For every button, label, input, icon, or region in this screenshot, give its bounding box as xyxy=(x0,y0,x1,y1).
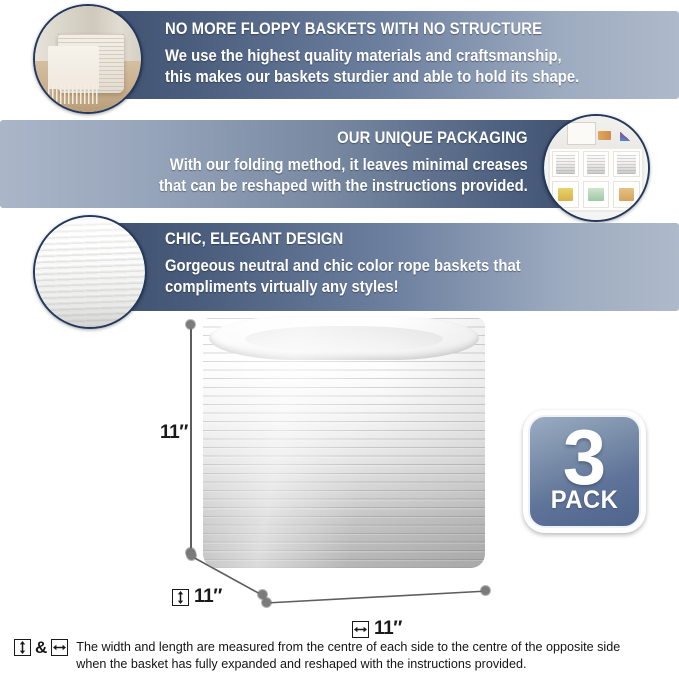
depth-dimension-dot-start xyxy=(187,551,196,560)
feature-body-3: Gorgeous neutral and chic color rope bas… xyxy=(165,256,521,298)
footnote-text: The width and length are measured from t… xyxy=(76,639,620,673)
vertical-arrow-icon xyxy=(14,639,31,656)
horizontal-arrow-icon xyxy=(352,621,369,638)
footnote-line-2: when the basket has fully expanded and r… xyxy=(76,656,620,673)
depth-dimension-label: 11″ xyxy=(194,586,222,608)
horizontal-arrow-icon xyxy=(51,639,68,656)
three-pack-badge: 3 PACK xyxy=(523,410,646,533)
feature-body-2: With our folding method, it leaves minim… xyxy=(159,155,528,197)
width-dimension-dot-right xyxy=(481,586,490,595)
grey-white-rope-storage-basket xyxy=(203,318,485,568)
basket-with-throw-blanket-photo xyxy=(33,4,143,114)
width-dimension-dot-left xyxy=(262,598,271,607)
height-dimension-label: 11″ xyxy=(160,422,188,444)
width-dimension-label: 11″ xyxy=(374,618,402,640)
height-dimension-dot-top xyxy=(186,320,195,329)
feature-body-line-2: that can be reshaped with the instructio… xyxy=(159,176,528,197)
feature-body-1: We use the highest quality materials and… xyxy=(165,46,579,88)
vertical-arrow-icon xyxy=(172,589,189,606)
feature-block-3: CHIC, ELEGANT DESIGN Gorgeous neutral an… xyxy=(0,216,679,322)
width-dimension-line xyxy=(262,586,494,608)
pack-word: PACK xyxy=(551,488,618,513)
feature-body-line-1: With our folding method, it leaves minim… xyxy=(159,155,528,176)
feature-heading-3: CHIC, ELEGANT DESIGN xyxy=(165,230,343,249)
height-dimension-line xyxy=(190,326,192,556)
feature-heading-1: NO MORE FLOPPY BASKETS WITH NO STRUCTURE xyxy=(165,20,542,39)
feature-body-line-1: We use the highest quality materials and… xyxy=(165,46,579,67)
product-infographic: NO MORE FLOPPY BASKETS WITH NO STRUCTURE… xyxy=(0,0,679,672)
feature-body-line-2: this makes our baskets sturdier and able… xyxy=(165,67,579,88)
ampersand-label: & xyxy=(35,639,47,656)
feature-body-line-2: compliments virtually any styles! xyxy=(165,277,521,298)
measurement-footnote: & The width and length are measured from… xyxy=(0,639,679,673)
feature-heading-2: OUR UNIQUE PACKAGING xyxy=(338,129,528,148)
pack-count: 3 xyxy=(563,426,606,490)
footnote-icons: & xyxy=(14,639,68,656)
feature-body-line-1: Gorgeous neutral and chic color rope bas… xyxy=(165,256,521,277)
width-dimension-label-row: 11″ xyxy=(352,618,402,640)
cube-shelf-with-baskets-photo xyxy=(542,114,650,222)
feature-block-1: NO MORE FLOPPY BASKETS WITH NO STRUCTURE… xyxy=(0,0,679,112)
feature-block-2: OUR UNIQUE PACKAGING With our folding me… xyxy=(0,112,679,216)
depth-dimension-label-row: 11″ xyxy=(172,586,222,608)
footnote-line-1: The width and length are measured from t… xyxy=(76,639,620,656)
